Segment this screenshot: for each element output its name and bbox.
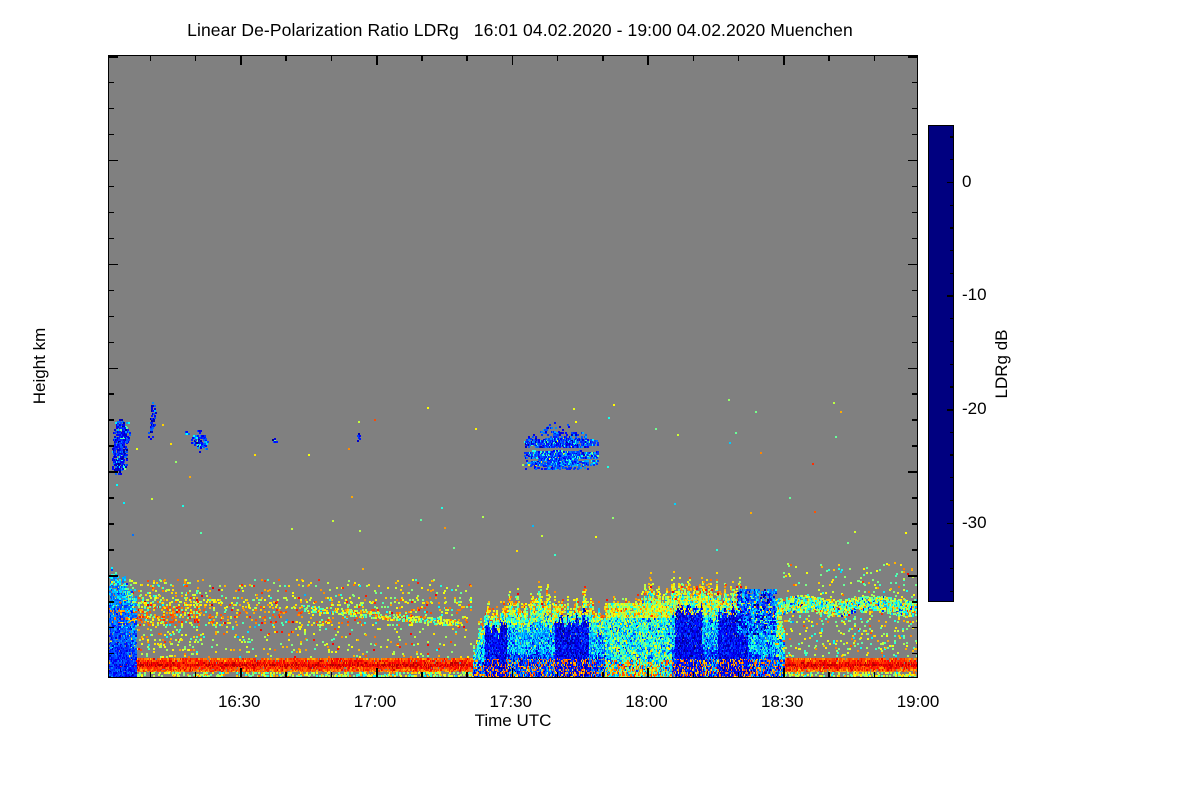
y-tick	[109, 186, 114, 187]
x-axis-title: Time UTC	[108, 711, 918, 731]
colorbar-tick	[950, 318, 954, 319]
y-tick-right	[908, 471, 917, 473]
y-tick-right	[912, 419, 917, 420]
x-tick	[828, 672, 829, 677]
x-tick	[240, 668, 242, 677]
y-tick-right	[912, 316, 917, 317]
colorbar-tick	[950, 591, 954, 592]
y-tick	[109, 342, 114, 343]
colorbar-tick	[950, 500, 954, 501]
y-tick-right	[912, 82, 917, 83]
page-title: Linear De-Polarization Ratio LDRg 16:01 …	[0, 20, 1040, 41]
y-tick-right	[912, 212, 917, 213]
x-tick-label: 18:00	[625, 692, 668, 712]
y-tick	[109, 549, 114, 550]
x-tick	[285, 672, 286, 677]
y-tick-right	[912, 445, 917, 446]
x-tick-top	[874, 56, 875, 61]
y-tick	[109, 497, 114, 498]
y-tick-right	[908, 575, 917, 577]
y-tick	[109, 653, 114, 654]
y-tick-right	[912, 108, 917, 109]
x-tick-top	[828, 56, 829, 61]
colorbar-tick	[947, 182, 954, 184]
x-tick	[466, 672, 467, 677]
y-tick	[109, 393, 114, 394]
y-tick	[109, 627, 114, 628]
y-tick-right	[908, 264, 917, 266]
x-tick-top	[285, 56, 286, 61]
colorbar-tick	[950, 568, 954, 569]
colorbar-tick	[950, 136, 954, 137]
colorbar-tick	[947, 409, 954, 411]
x-tick-top	[738, 56, 739, 61]
x-tick	[376, 668, 378, 677]
x-tick	[874, 672, 875, 677]
y-tick-right	[912, 393, 917, 394]
colorbar-tick-label: -30	[962, 513, 987, 533]
x-tick-top	[240, 56, 242, 65]
colorbar-tick	[950, 454, 954, 455]
y-tick-right	[908, 368, 917, 370]
y-tick-right	[912, 601, 917, 602]
y-tick	[109, 160, 118, 162]
y-tick	[109, 82, 114, 83]
colorbar-title: LDRg dB	[992, 330, 1012, 399]
x-tick-top	[557, 56, 558, 61]
x-tick-top	[783, 56, 785, 65]
y-tick	[109, 471, 118, 473]
colorbar-tick-label: -20	[962, 399, 987, 419]
x-tick-top	[195, 56, 196, 61]
y-tick	[109, 368, 118, 370]
y-tick-right	[912, 497, 917, 498]
y-tick-right	[912, 523, 917, 524]
y-tick	[109, 264, 118, 266]
x-tick	[693, 672, 694, 677]
colorbar-tick	[950, 341, 954, 342]
y-tick-right	[912, 627, 917, 628]
y-tick	[109, 601, 114, 602]
x-tick-label: 18:30	[761, 692, 804, 712]
x-tick	[331, 672, 332, 677]
colorbar-tick	[950, 364, 954, 365]
colorbar-tick	[947, 523, 954, 525]
colorbar-tick	[950, 386, 954, 387]
colorbar-tick-label: -10	[962, 285, 987, 305]
y-tick-right	[912, 186, 917, 187]
y-tick	[109, 419, 114, 420]
x-tick	[557, 672, 558, 677]
radar-heatmap-canvas	[109, 56, 918, 678]
x-tick-label: 17:30	[489, 692, 532, 712]
x-tick-top	[376, 56, 378, 65]
plot-area	[108, 55, 918, 678]
colorbar	[928, 125, 954, 602]
y-tick	[109, 238, 114, 239]
y-tick-right	[912, 549, 917, 550]
y-tick	[109, 134, 114, 135]
x-tick-top	[150, 56, 151, 61]
x-tick	[512, 668, 514, 677]
y-tick	[109, 575, 118, 577]
y-tick	[109, 523, 114, 524]
x-tick-label: 17:00	[354, 692, 397, 712]
y-tick	[109, 56, 118, 58]
x-tick-top	[421, 56, 422, 61]
y-tick-right	[912, 238, 917, 239]
x-tick-label: 16:30	[218, 692, 261, 712]
x-tick-label: 19:00	[897, 692, 940, 712]
colorbar-tick	[950, 159, 954, 160]
y-tick-right	[912, 290, 917, 291]
colorbar-tick	[950, 227, 954, 228]
x-tick	[602, 672, 603, 677]
colorbar-tick	[950, 205, 954, 206]
x-tick	[783, 668, 785, 677]
y-tick-right	[912, 134, 917, 135]
y-tick	[109, 290, 114, 291]
y-tick-right	[912, 653, 917, 654]
x-tick	[647, 668, 649, 677]
x-tick-top	[466, 56, 467, 61]
y-axis-title: Height km	[30, 328, 50, 405]
x-tick	[738, 672, 739, 677]
y-tick	[109, 212, 114, 213]
x-tick-top	[647, 56, 649, 65]
y-tick	[109, 108, 114, 109]
x-tick	[421, 672, 422, 677]
colorbar-tick	[950, 250, 954, 251]
colorbar-tick	[950, 273, 954, 274]
x-tick-top	[602, 56, 603, 61]
x-tick	[195, 672, 196, 677]
colorbar-tick	[947, 295, 954, 297]
x-tick	[150, 672, 151, 677]
radar-plot-figure: Linear De-Polarization Ratio LDRg 16:01 …	[0, 0, 1200, 800]
x-tick-top	[693, 56, 694, 61]
y-tick	[109, 445, 114, 446]
colorbar-tick-label: 0	[962, 172, 971, 192]
colorbar-tick	[950, 545, 954, 546]
y-tick-right	[912, 342, 917, 343]
y-tick-right	[908, 160, 917, 162]
colorbar-tick	[950, 477, 954, 478]
y-tick-right	[908, 56, 917, 58]
y-tick	[109, 316, 114, 317]
colorbar-tick	[950, 432, 954, 433]
x-tick-top	[512, 56, 514, 65]
x-tick-top	[331, 56, 332, 61]
